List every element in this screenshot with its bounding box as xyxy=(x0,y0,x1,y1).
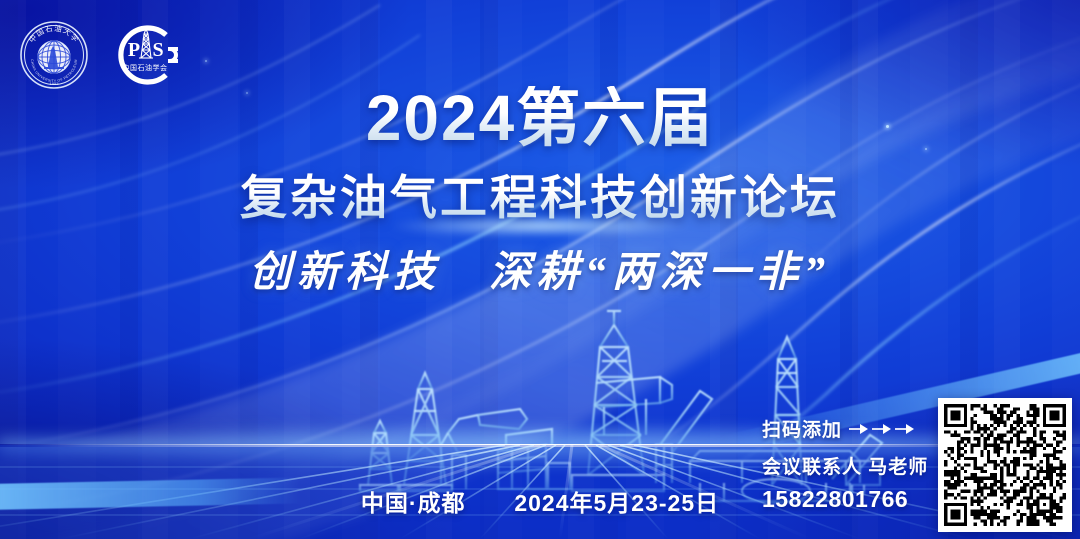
contact-block: 扫码添加 会议联系人 马老师 15822801766 xyxy=(762,415,952,513)
footer-date: 2024年5月23-25日 xyxy=(514,490,719,516)
qr-code[interactable] xyxy=(938,398,1072,532)
qr-code-canvas xyxy=(944,404,1066,526)
svg-text:中国石油学会: 中国石油学会 xyxy=(123,63,168,72)
title-year-line: 2024第六届 xyxy=(0,86,1080,150)
conference-banner: 中国石油大学 CHINA UNIVERSITY OF PETROLEUM 195… xyxy=(0,0,1080,539)
svg-text:P: P xyxy=(128,39,140,61)
arrow-right-icon-group xyxy=(849,423,915,435)
footer-location: 中国·成都 xyxy=(361,490,466,516)
title-slogan: 创新科技 深耕“两深一非” xyxy=(0,238,1080,299)
logo-group: 中国石油大学 CHINA UNIVERSITY OF PETROLEUM 195… xyxy=(18,18,182,92)
chinese-petroleum-society-logo-icon: P S 中国石油学会 xyxy=(108,18,182,92)
contact-phone: 15822801766 xyxy=(762,486,952,513)
scan-label: 扫码添加 xyxy=(762,415,842,442)
sparkle-dot xyxy=(205,60,207,62)
title-underglow xyxy=(330,218,750,234)
scan-row: 扫码添加 xyxy=(762,415,952,442)
svg-text:S: S xyxy=(152,39,163,61)
contact-person: 会议联系人 马老师 xyxy=(762,452,952,479)
china-university-of-petroleum-seal-icon: 中国石油大学 CHINA UNIVERSITY OF PETROLEUM 195… xyxy=(18,19,90,91)
title-main-line: 复杂油气工程科技创新论坛 xyxy=(0,172,1080,225)
